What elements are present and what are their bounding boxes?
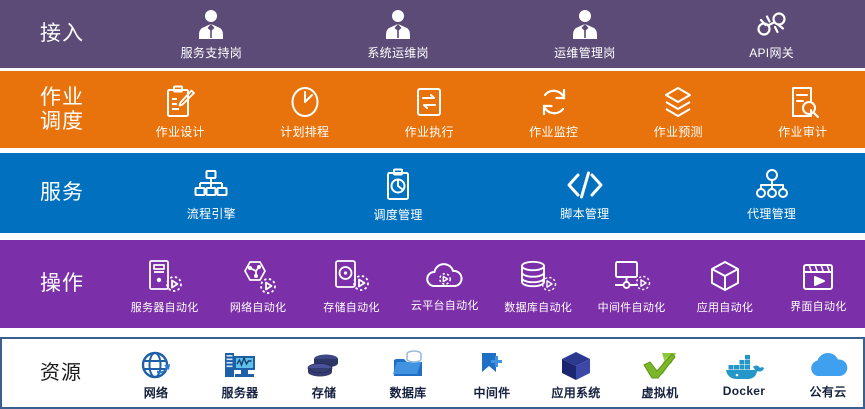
layers-stack-icon (660, 84, 696, 120)
item-database-automation[interactable]: 数据库自动化 (493, 258, 583, 315)
item-label: 存储 (312, 384, 337, 401)
sitemap-icon (193, 168, 229, 202)
item-ops-manager[interactable]: 运维管理岗 (525, 9, 645, 61)
item-label: 界面自动化 (790, 298, 847, 314)
layer-operate-items: 服务器自动化 (118, 240, 865, 328)
item-label: 网络 (144, 384, 169, 401)
item-label: 服务支持岗 (181, 44, 243, 61)
item-label: 运维管理岗 (554, 44, 616, 61)
layer-resource: 资源 网络 (0, 337, 865, 409)
item-docker[interactable]: Docker (702, 352, 786, 398)
person-manager-icon (568, 9, 602, 41)
item-app-system[interactable]: 应用系统 (534, 350, 618, 401)
item-label: 服务器自动化 (131, 299, 199, 315)
item-service-support[interactable]: 服务支持岗 (151, 9, 271, 61)
item-label: 作业监控 (529, 123, 578, 140)
layer-access-items: 服务支持岗 系统运维岗 (118, 0, 865, 68)
storage-auto-icon (331, 258, 371, 296)
item-label: 计划排程 (280, 123, 329, 140)
item-label: 作业审计 (778, 123, 827, 140)
item-job-audit[interactable]: 作业审计 (747, 84, 859, 140)
exchange-box-icon (413, 84, 445, 120)
layer-access-title: 接入 (0, 22, 118, 46)
server-monitor-icon (222, 350, 258, 382)
layer-schedule: 作业 调度 作业设计 (0, 71, 865, 148)
item-job-monitor[interactable]: 作业监控 (498, 84, 610, 140)
item-label: 应用自动化 (697, 299, 754, 315)
item-server-automation[interactable]: 服务器自动化 (120, 258, 210, 315)
item-ui-automation[interactable]: 界面自动化 (773, 259, 863, 314)
item-server[interactable]: 服务器 (198, 350, 282, 401)
item-label: 流程引擎 (187, 205, 236, 222)
layer-service: 服务 流程引擎 (0, 153, 865, 233)
item-script-manage[interactable]: 脚本管理 (520, 168, 650, 222)
item-label: 作业预测 (654, 123, 703, 140)
item-label: 中间件 (474, 384, 511, 401)
item-label: 脚本管理 (560, 205, 609, 222)
layer-schedule-title: 作业 调度 (0, 86, 118, 133)
clipboard-pen-icon (164, 84, 196, 120)
app-cube-auto-icon (706, 258, 744, 296)
person-support-icon (194, 9, 228, 41)
item-plan-schedule[interactable]: 计划排程 (249, 84, 361, 140)
item-storage[interactable]: 存储 (282, 350, 366, 401)
item-label: 中间件自动化 (598, 299, 666, 315)
public-cloud-icon (807, 351, 849, 381)
item-storage-automation[interactable]: 存储自动化 (306, 258, 396, 315)
clock-icon (288, 84, 322, 120)
cloud-auto-icon (423, 260, 467, 294)
item-label: 存储自动化 (323, 299, 380, 315)
database-auto-icon (517, 258, 559, 296)
item-cloud-automation[interactable]: 云平台自动化 (400, 260, 490, 313)
item-api-gateway[interactable]: API网关 (712, 9, 832, 61)
layer-schedule-title-line1: 作业 (6, 86, 118, 110)
item-database[interactable]: 数据库 (366, 350, 450, 401)
item-agent-manage[interactable]: 代理管理 (707, 168, 837, 222)
layer-operate-title: 操作 (0, 272, 118, 296)
layer-service-items: 流程引擎 调度管理 (118, 153, 865, 233)
item-network-automation[interactable]: 网络自动化 (213, 258, 303, 315)
item-job-design[interactable]: 作业设计 (124, 84, 236, 140)
api-plug-icon (754, 9, 790, 41)
item-network[interactable]: 网络 (114, 350, 198, 401)
layer-resource-title: 资源 (2, 362, 114, 384)
app-cube-icon (559, 350, 593, 382)
item-label: Docker (723, 384, 766, 398)
docker-whale-icon (723, 352, 765, 382)
item-label: 网络自动化 (230, 299, 287, 315)
network-auto-icon (237, 258, 279, 296)
item-virtual-machine[interactable]: 虚拟机 (618, 350, 702, 401)
item-label: 系统运维岗 (367, 44, 429, 61)
item-label: 虚拟机 (642, 384, 679, 401)
item-label: 调度管理 (374, 206, 423, 223)
item-label: 云平台自动化 (411, 297, 479, 313)
item-app-automation[interactable]: 应用自动化 (680, 258, 770, 315)
item-job-execute[interactable]: 作业执行 (373, 84, 485, 140)
middleware-flag-icon (476, 350, 508, 382)
item-middleware[interactable]: 中间件 (450, 350, 534, 401)
item-process-engine[interactable]: 流程引擎 (146, 168, 276, 222)
agent-tree-icon (754, 168, 790, 202)
item-system-ops[interactable]: 系统运维岗 (338, 9, 458, 61)
item-middleware-automation[interactable]: 中间件自动化 (587, 258, 677, 315)
sync-refresh-icon (537, 84, 571, 120)
person-sysops-icon (381, 9, 415, 41)
item-label: API网关 (749, 44, 794, 61)
item-label: 数据库 (390, 384, 427, 401)
globe-network-icon (139, 350, 173, 382)
storage-disks-icon (306, 350, 342, 382)
clipboard-clock-icon (383, 167, 413, 203)
item-label: 服务器 (222, 384, 259, 401)
vmware-check-icon (641, 350, 679, 382)
item-label: 作业执行 (405, 123, 454, 140)
server-auto-icon (145, 258, 185, 296)
layer-schedule-title-line2: 调度 (6, 110, 118, 134)
layer-resource-items: 网络 (114, 339, 865, 407)
item-schedule-manage[interactable]: 调度管理 (333, 167, 463, 223)
item-label: 公有云 (810, 383, 847, 400)
item-public-cloud[interactable]: 公有云 (786, 351, 865, 400)
ui-play-auto-icon (799, 259, 837, 295)
middleware-auto-icon (611, 258, 653, 296)
item-label: 应用系统 (551, 384, 600, 401)
layer-schedule-items: 作业设计 计划排程 (118, 71, 865, 148)
layer-service-title: 服务 (0, 181, 118, 205)
layer-access: 接入 服务支持岗 (0, 0, 865, 68)
document-search-icon (787, 84, 819, 120)
layer-operate: 操作 服务器自动化 (0, 240, 865, 328)
item-label: 代理管理 (747, 205, 796, 222)
item-label: 作业设计 (156, 123, 205, 140)
item-label: 数据库自动化 (504, 299, 572, 315)
code-brackets-icon (564, 168, 606, 202)
item-job-forecast[interactable]: 作业预测 (622, 84, 734, 140)
database-folder-icon (390, 350, 426, 382)
architecture-diagram: 接入 服务支持岗 (0, 0, 865, 409)
